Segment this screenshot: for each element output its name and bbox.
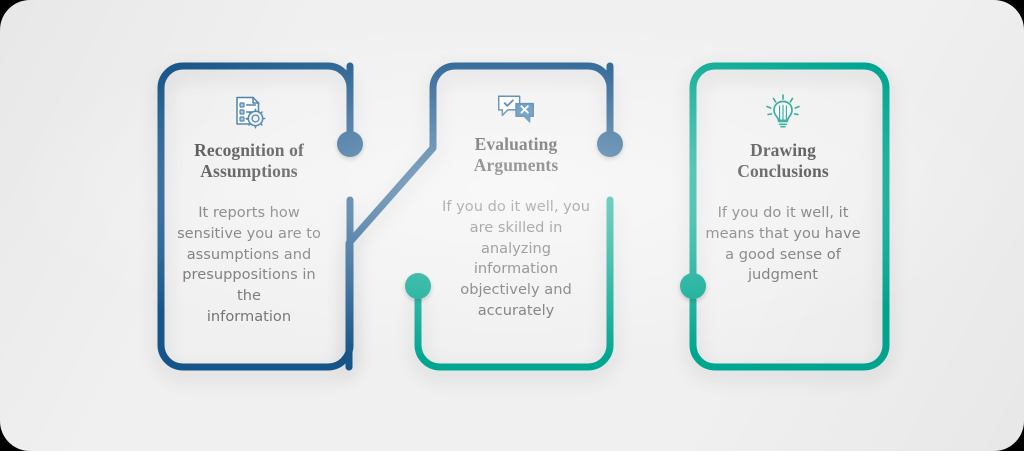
node-blue-top-1 [337,131,363,157]
card-evaluating-arguments[interactable]: Evaluating Arguments If you do it well, … [440,92,592,322]
card-body: It reports how sensitive you are to assu… [173,203,325,327]
card-title: Drawing Conclusions [737,140,829,181]
card-title: Recognition of Assumptions [194,140,304,181]
speech-bubbles-check-cross-icon [496,92,536,126]
card-recognition-of-assumptions[interactable]: Recognition of Assumptions It reports ho… [168,92,330,328]
node-teal-mid-1 [405,273,431,299]
card-drawing-conclusions[interactable]: Drawing Conclusions If you do it well, i… [700,92,866,286]
card-body: If you do it well, you are skilled in an… [441,197,591,321]
infographic-stage: Recognition of Assumptions It reports ho… [0,0,1024,451]
checklist-document-gear-icon [229,92,269,132]
card-title: Evaluating Arguments [474,134,559,175]
lightbulb-idea-icon [763,92,803,132]
infographic-panel: Recognition of Assumptions It reports ho… [0,0,1024,451]
card-body: If you do it well, it means that you hav… [700,203,866,286]
node-blue-top-2 [597,131,623,157]
